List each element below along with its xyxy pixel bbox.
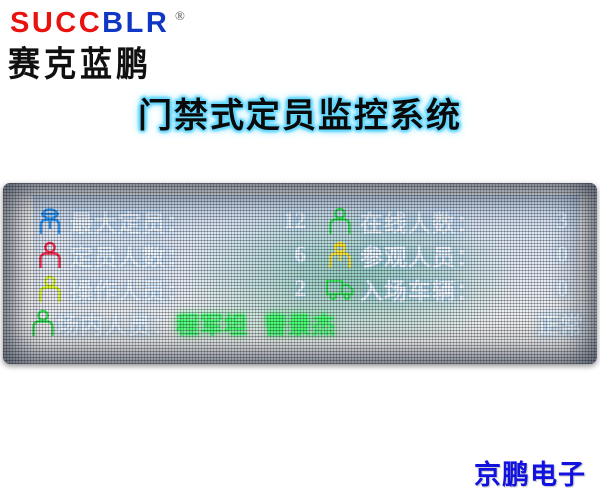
led-row-onsite-personnel: 场内人员： 程军坦曹景杰 正常 (3, 306, 597, 340)
person-cap-yellow-icon (320, 241, 360, 269)
logo-wordmark-blue: BLR (102, 7, 169, 39)
company-logo: SUCCBLR ® 赛克蓝鹏 (8, 6, 238, 76)
led-label: 在线人数： (360, 204, 520, 238)
led-label: 参观人员： (360, 238, 520, 272)
person-yellow-icon (30, 275, 70, 303)
led-value: 0 (520, 276, 582, 302)
led-cell-operator-count: 操作人员： 2 (30, 272, 320, 306)
logo-chinese-name: 赛克蓝鹏 (8, 37, 152, 87)
led-rows-container: 最大定员： 12 在线人数： 3 (3, 183, 597, 364)
person-green-icon (320, 207, 360, 235)
led-cell-onsite-personnel: 场内人员： 程军坦曹景杰 (30, 306, 270, 340)
led-value: 3 (520, 208, 582, 234)
led-cell-registered-count: 定员人数： 6 (30, 238, 320, 272)
led-value: 0 (520, 242, 582, 268)
led-label: 场内人员： (56, 306, 176, 340)
logo-wordmark: SUCCBLR (10, 8, 169, 38)
led-cell-visitor-count: 参观人员： 0 (320, 238, 582, 272)
led-value: 2 (230, 276, 320, 302)
led-value: 6 (230, 242, 320, 268)
led-label: 入场车辆： (360, 272, 520, 306)
person-red-icon (30, 241, 70, 269)
onsite-name: 程军坦 (176, 313, 248, 338)
led-cell-vehicle-count: 入场车辆： 0 (320, 272, 582, 306)
led-label: 最大定员： (70, 204, 230, 238)
page-title: 门禁式定员监控系统 (0, 88, 600, 137)
logo-wordmark-red: SUCC (10, 7, 102, 39)
led-cell-max-capacity: 最大定员： 12 (30, 204, 320, 238)
led-status-container: 正常 (270, 306, 597, 340)
led-value: 12 (230, 208, 320, 234)
status-badge: 正常 (537, 306, 597, 340)
led-cell-online-count: 在线人数： 3 (320, 204, 582, 238)
led-label: 操作人员： (70, 272, 230, 306)
truck-icon (320, 277, 360, 301)
footer-brand: 京鹏电子 (474, 453, 586, 492)
led-row: 最大定员： 12 在线人数： 3 (3, 204, 597, 238)
led-label: 定员人数： (70, 238, 230, 272)
led-row: 操作人员： 2 入场车辆： 0 (3, 272, 597, 306)
led-row: 定员人数： 6 参观人员： 0 (3, 238, 597, 272)
registered-trademark-icon: ® (175, 8, 185, 24)
person-helmet-icon (30, 207, 70, 235)
person-onsite-icon (30, 309, 56, 337)
led-display-panel: 最大定员： 12 在线人数： 3 (3, 183, 597, 364)
